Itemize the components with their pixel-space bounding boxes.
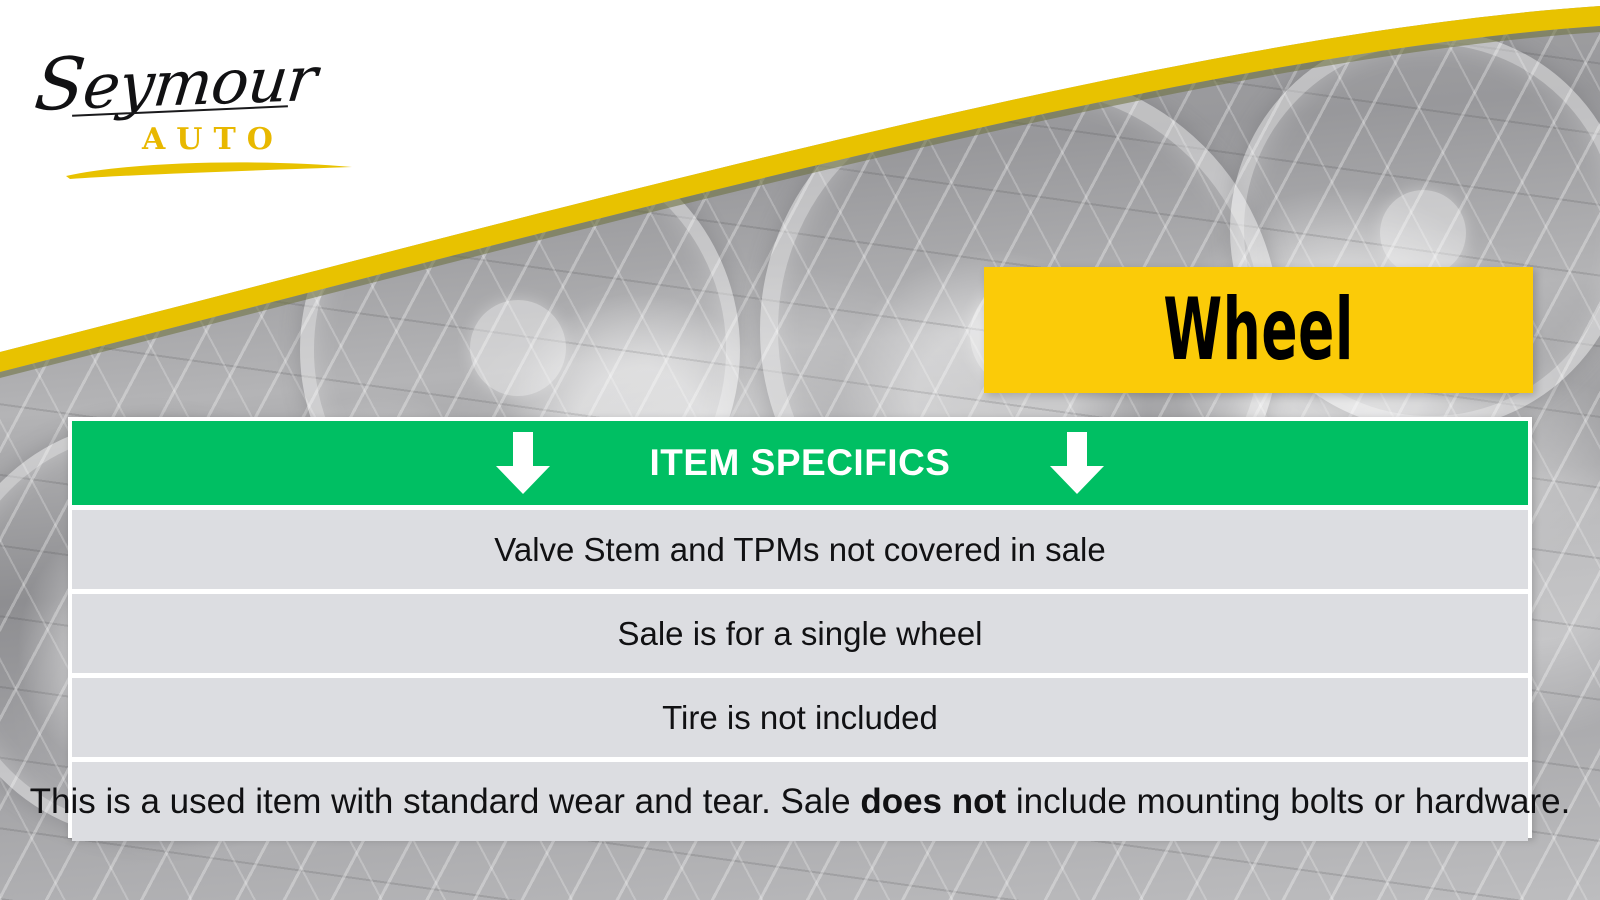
table-row: Sale is for a single wheel (72, 594, 1528, 673)
item-specifics-header: ITEM SPECIFICS (72, 421, 1528, 505)
table-row: Valve Stem and TPMs not covered in sale (72, 510, 1528, 589)
logo-auto-text: AUTO (142, 122, 284, 157)
table-row: This is a used item with standard wear a… (72, 762, 1528, 841)
logo: Seymour AUTO (30, 22, 350, 172)
spec-text: Valve Stem and TPMs not covered in sale (494, 531, 1105, 569)
item-specifics-rows: Valve Stem and TPMs not covered in sale … (72, 510, 1528, 841)
down-arrow-icon (1046, 430, 1108, 496)
wheel-hub-shape (1380, 190, 1466, 276)
table-row: Tire is not included (72, 678, 1528, 757)
spec-text-rich: This is a used item with standard wear a… (30, 782, 1571, 822)
spec-text-prefix: This is a used item with standard wear a… (30, 782, 861, 821)
spec-text: Sale is for a single wheel (617, 615, 982, 653)
slide-canvas: Seymour AUTO Wheel ITEM SPECIFICS Valve … (0, 0, 1600, 900)
item-specifics-title: ITEM SPECIFICS (650, 442, 951, 484)
spec-text: Tire is not included (662, 699, 938, 737)
item-specifics-table: ITEM SPECIFICS Valve Stem and TPMs not c… (68, 417, 1532, 838)
spec-text-emphasis: does not (860, 782, 1006, 821)
wheel-hub-shape (470, 300, 566, 396)
logo-script-text: Seymour (31, 33, 321, 127)
spec-text-suffix: include mounting bolts or hardware. (1006, 782, 1570, 821)
title-banner: Wheel (984, 267, 1533, 393)
page-title: Wheel (1163, 287, 1353, 373)
logo-swoosh-icon (64, 158, 354, 180)
down-arrow-icon (492, 430, 554, 496)
